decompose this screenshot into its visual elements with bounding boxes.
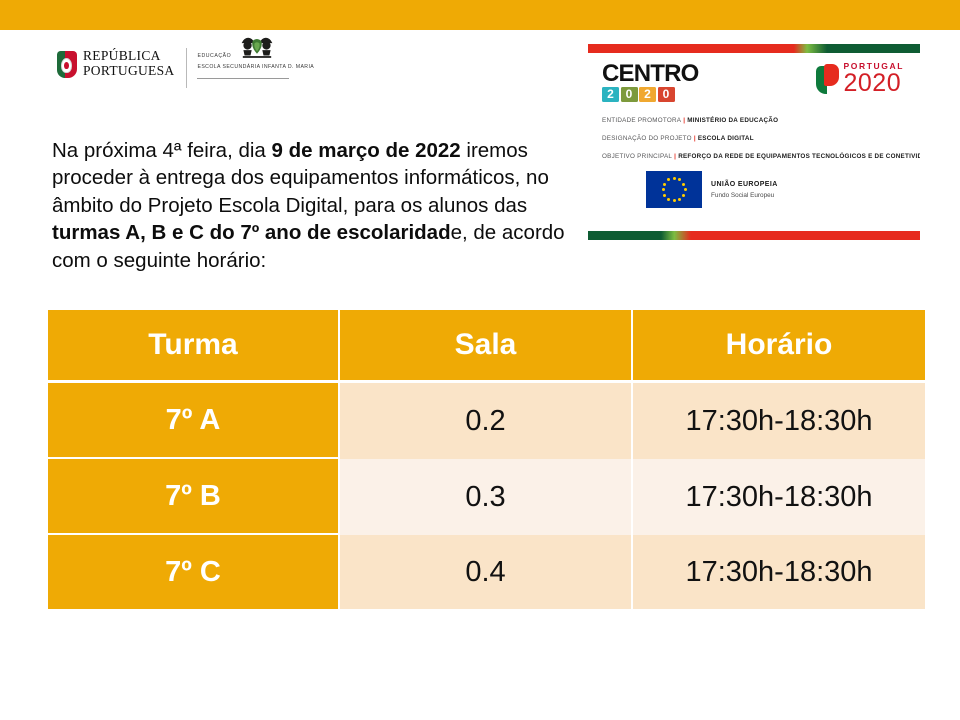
european-union-block: UNIÃO EUROPEIA Fundo Social Europeu <box>646 171 908 208</box>
republica-line: REPÚBLICA <box>83 49 174 64</box>
republica-portuguesa-wordmark: REPÚBLICA PORTUGUESA <box>83 48 174 78</box>
logo-divider <box>186 48 187 88</box>
portugal2020-logo: PORTUGAL 2020 <box>816 62 905 96</box>
banner-value-objetivo: REFORÇO DA REDE DE EQUIPAMENTOS TECNOLÓG… <box>678 153 920 160</box>
eu-title: UNIÃO EUROPEIA <box>711 181 778 188</box>
eu-flag-icon <box>646 171 702 208</box>
table-header-row: Turma Sala Horário <box>48 310 925 383</box>
column-header-turma: Turma <box>48 310 340 383</box>
portugal-year: 2020 <box>844 70 905 96</box>
table-row: 7º C0.417:30h-18:30h <box>48 535 925 609</box>
portugal2020-mark-icon <box>816 64 840 94</box>
banner-label-objetivo: OBJETIVO PRINCIPAL <box>602 153 672 160</box>
banner-label-designacao: DESIGNAÇÃO DO PROJETO <box>602 135 692 142</box>
announcement-paragraph: Na próxima 4ª feira, dia 9 de março de 2… <box>52 137 582 275</box>
school-identity-block: EDUCAÇÃO ESCOLA SECUNDÁRIA INFANTA D. MA… <box>197 48 314 79</box>
banner-row-entidade: ENTIDADE PROMOTORA|MINISTÉRIO DA EDUCAÇÃ… <box>602 117 908 124</box>
schedule-table: Turma Sala Horário 7º A0.217:30h-18:30h7… <box>48 310 925 609</box>
centro-year-digit: 2 <box>602 87 619 102</box>
table-row: 7º B0.317:30h-18:30h <box>48 459 925 535</box>
cell-horario: 17:30h-18:30h <box>633 535 925 609</box>
portugal-shield-icon <box>57 51 77 78</box>
school-name-label: ESCOLA SECUNDÁRIA INFANTA D. MARIA <box>197 64 314 70</box>
centro2020-funding-banner: CENTRO 2020 PORTUGAL 2020 ENTIDADE PROMO… <box>588 44 920 240</box>
centro-wordmark: CENTRO <box>602 62 699 86</box>
cell-turma: 7º A <box>48 383 340 459</box>
centro-year-digit: 0 <box>658 87 675 102</box>
banner-bottom-stripe <box>588 231 920 240</box>
centro-year-digit: 2 <box>639 87 656 102</box>
cell-sala: 0.2 <box>340 383 633 459</box>
cell-horario: 17:30h-18:30h <box>633 383 925 459</box>
centro2020-logo: CENTRO 2020 <box>602 62 699 102</box>
banner-value-entidade: MINISTÉRIO DA EDUCAÇÃO <box>687 117 778 124</box>
cell-horario: 17:30h-18:30h <box>633 459 925 535</box>
cell-sala: 0.4 <box>340 535 633 609</box>
banner-row-objetivo: OBJETIVO PRINCIPAL|REFORÇO DA REDE DE EQ… <box>602 153 908 160</box>
banner-label-entidade: ENTIDADE PROMOTORA <box>602 117 681 124</box>
top-accent-bar <box>0 0 960 30</box>
portuguesa-line: PORTUGUESA <box>83 64 174 79</box>
institutional-logo: REPÚBLICA PORTUGUESA EDUCAÇÃO ESCOLA SEC… <box>57 48 314 96</box>
cell-turma: 7º C <box>48 535 340 609</box>
cell-turma: 7º B <box>48 459 340 535</box>
table-row: 7º A0.217:30h-18:30h <box>48 383 925 459</box>
banner-top-stripe <box>588 44 920 53</box>
centro-year-squares: 2020 <box>602 87 699 102</box>
banner-row-designacao: DESIGNAÇÃO DO PROJETO|ESCOLA DIGITAL <box>602 135 908 142</box>
eu-subtitle: Fundo Social Europeu <box>711 192 778 199</box>
coat-of-arms-icon <box>239 36 275 62</box>
banner-value-designacao: ESCOLA DIGITAL <box>698 135 754 142</box>
school-underline <box>197 78 289 79</box>
centro-year-digit: 0 <box>621 87 638 102</box>
column-header-horario: Horário <box>633 310 925 383</box>
column-header-sala: Sala <box>340 310 633 383</box>
cell-sala: 0.3 <box>340 459 633 535</box>
